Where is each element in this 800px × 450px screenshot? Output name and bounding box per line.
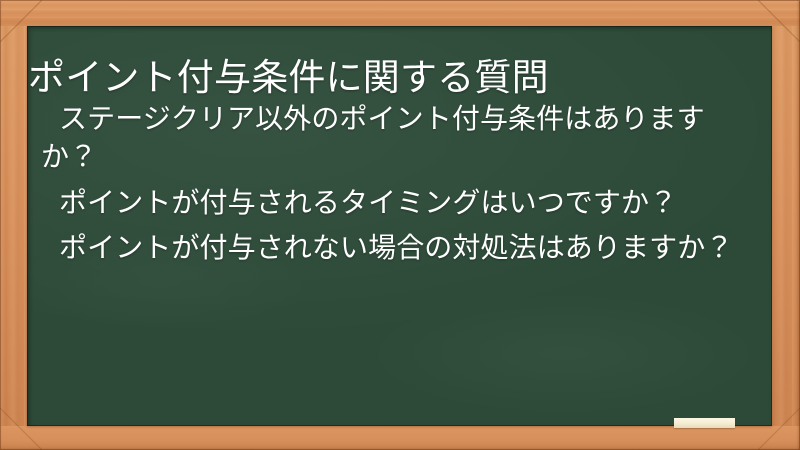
list-item: ステージクリア以外のポイント付与条件はありますか？	[41, 100, 741, 176]
page-title: ポイント付与条件に関する質問	[28, 56, 763, 100]
chalkboard-slide: ポイント付与条件に関する質問 ステージクリア以外のポイント付与条件はありますか？…	[0, 0, 800, 450]
list-item: ポイントが付与されるタイミングはいつですか？	[41, 184, 741, 222]
chalkboard-surface: ポイント付与条件に関する質問 ステージクリア以外のポイント付与条件はありますか？…	[27, 26, 772, 426]
chalk-stick-icon	[674, 418, 735, 428]
question-list: ステージクリア以外のポイント付与条件はありますか？ ポイントが付与されるタイミン…	[41, 100, 741, 267]
list-item: ポイントが付与されない場合の対処法はありますか？	[41, 229, 741, 267]
